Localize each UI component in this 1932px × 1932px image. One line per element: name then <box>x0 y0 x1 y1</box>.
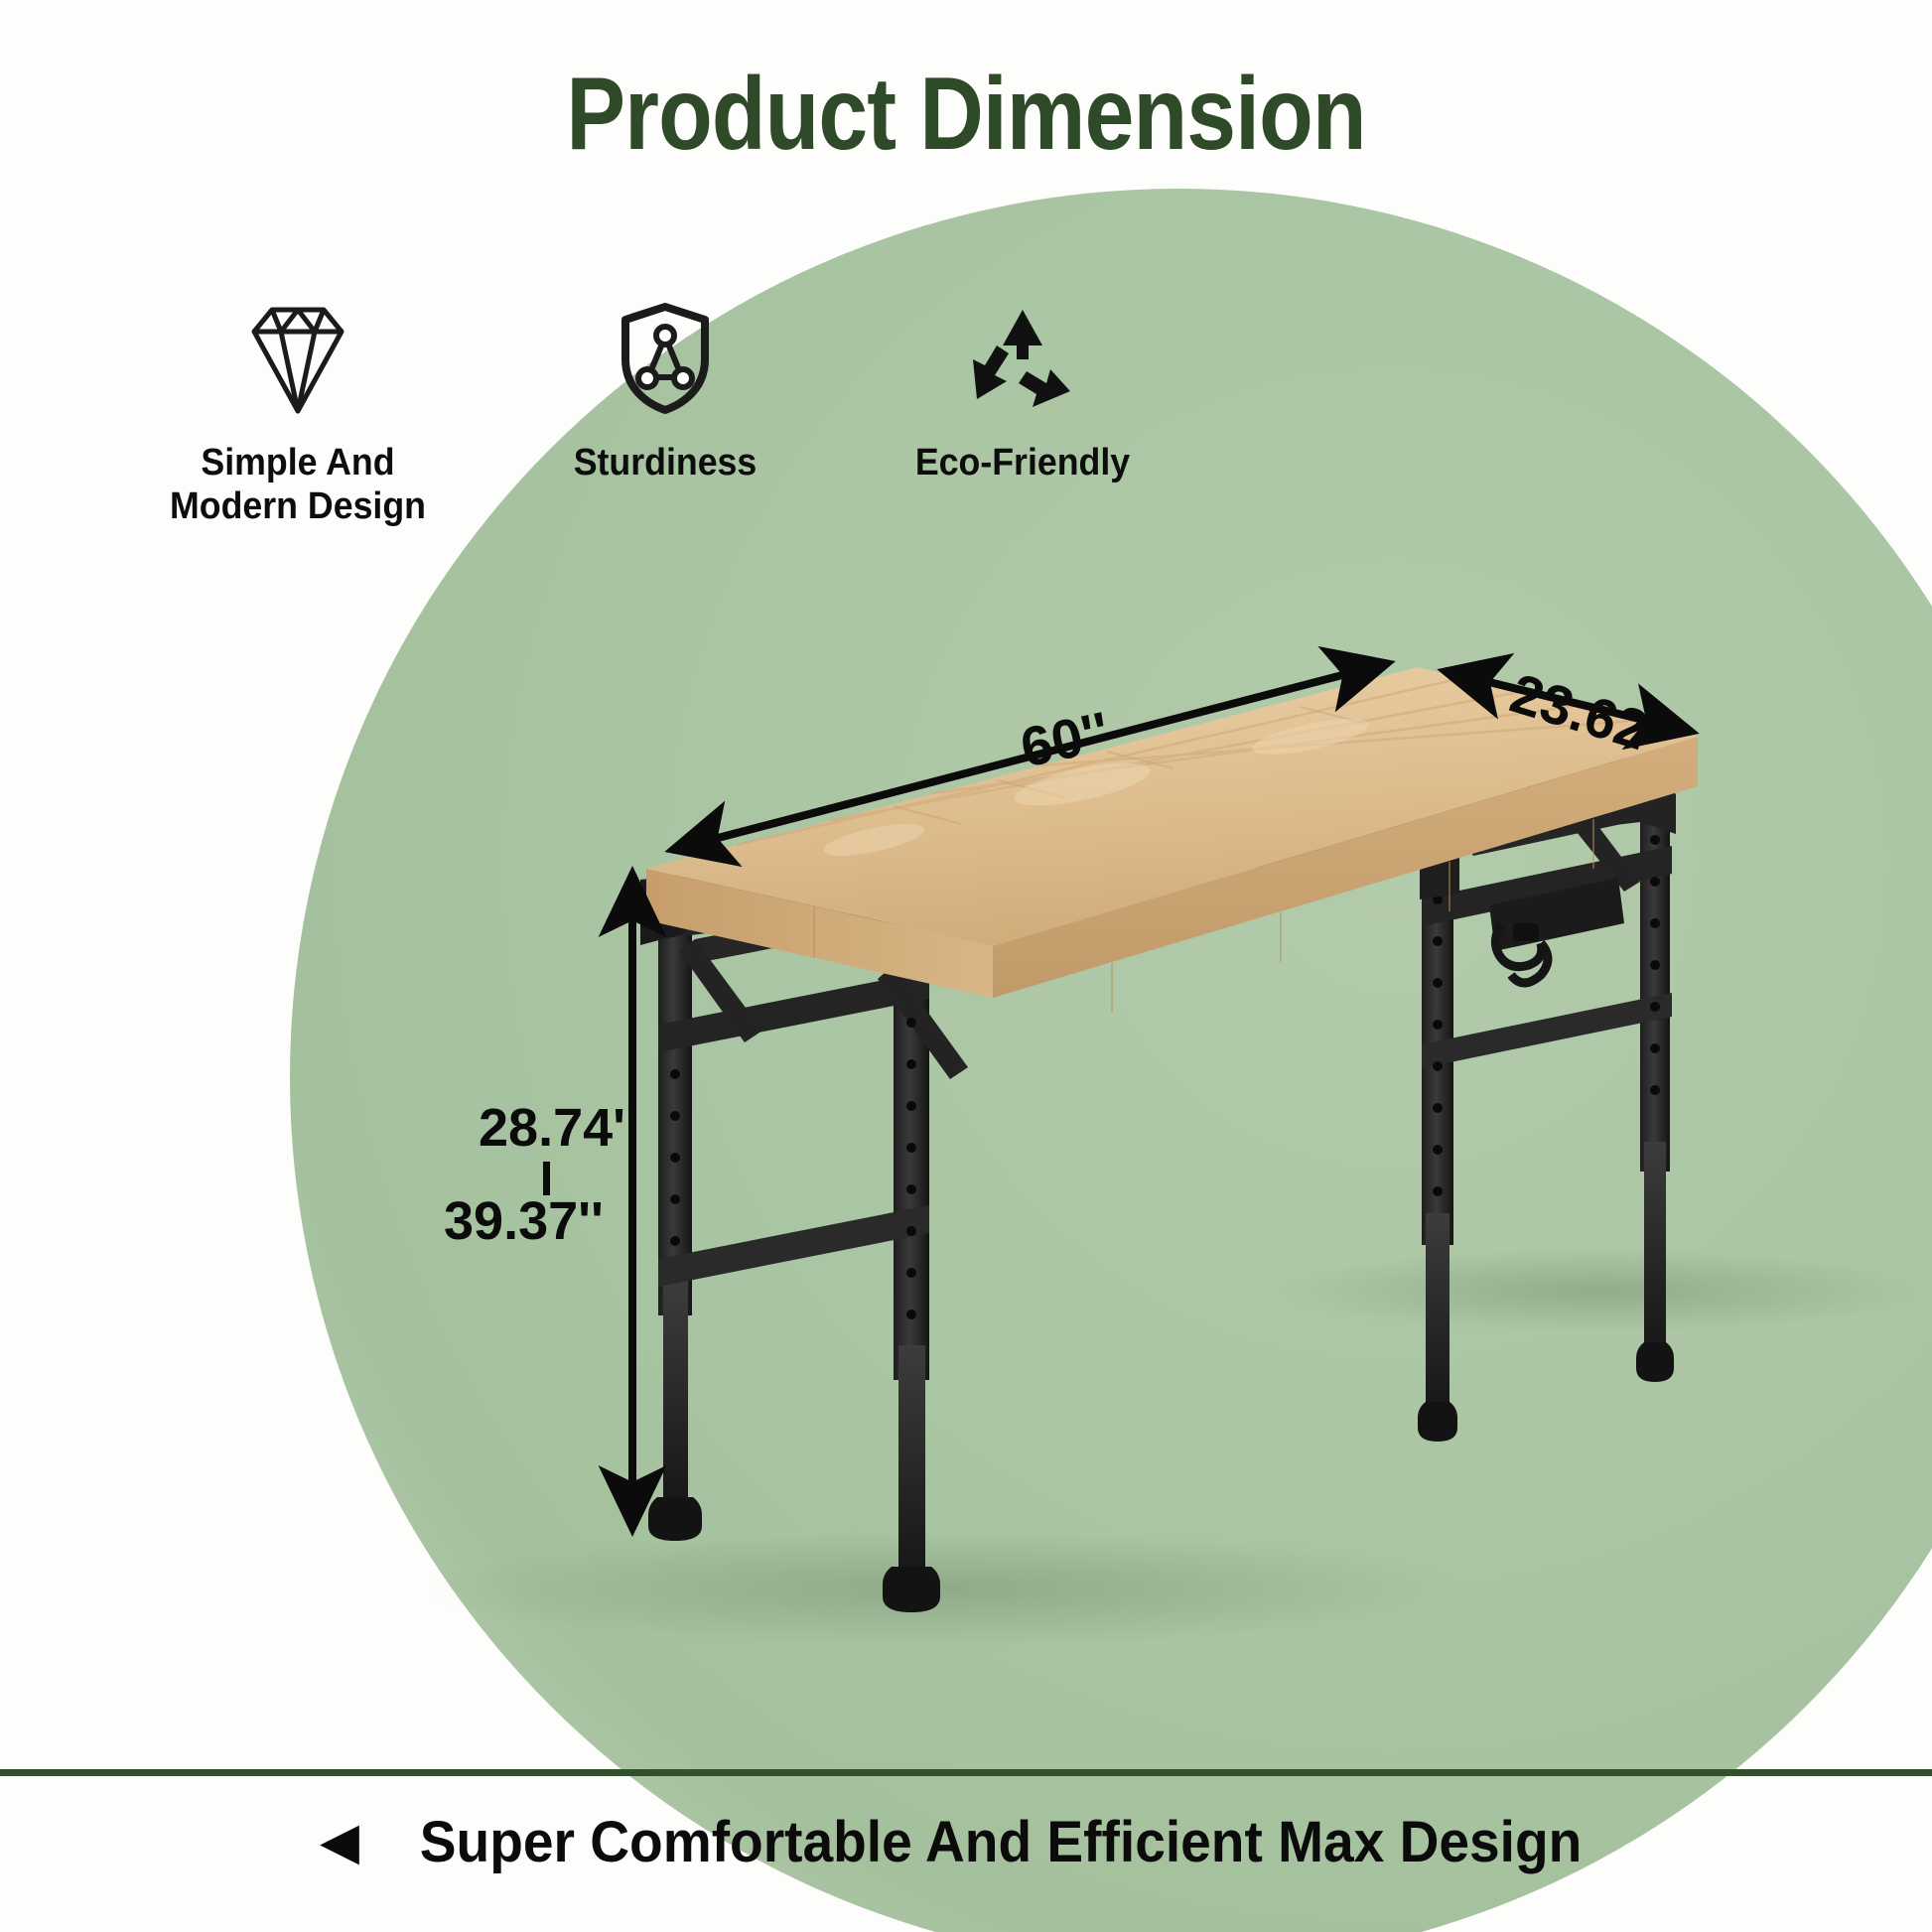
product-dimension-infographic: Product Dimension Simple And Mod <box>0 0 1932 1932</box>
left-triangle-icon: ◀ <box>320 1816 359 1867</box>
footer-divider <box>0 1769 1932 1776</box>
feature-item-eco-friendly: Eco-Friendly <box>834 298 1211 484</box>
feature-label-simple-modern-design: Simple And Modern Design <box>120 441 475 529</box>
background-decoration <box>0 0 1932 1932</box>
footer-banner-text: Super Comfortable And Efficient Max Desi… <box>420 1809 1583 1875</box>
diamond-icon <box>109 298 486 415</box>
feature-item-simple-modern-design: Simple And Modern Design <box>109 298 486 529</box>
feature-label-line1: Eco-Friendly <box>845 441 1199 484</box>
feature-list: Simple And Modern Design Sturdiness <box>109 298 1201 556</box>
recycle-icon <box>834 298 1211 415</box>
feature-label-line2: Modern Design <box>120 484 475 528</box>
height-min-label: 28.74'' <box>479 1097 638 1159</box>
footer-banner: ◀ Super Comfortable And Efficient Max De… <box>0 1787 1932 1896</box>
shield-icon <box>506 298 824 415</box>
height-max-label: 39.37'' <box>444 1190 604 1252</box>
feature-item-sturdiness: Sturdiness <box>506 298 824 484</box>
feature-label-sturdiness: Sturdiness <box>516 441 815 484</box>
page-title: Product Dimension <box>135 56 1797 174</box>
feature-label-line1: Simple And <box>120 441 475 484</box>
feature-label-line1: Sturdiness <box>516 441 815 484</box>
feature-label-eco-friendly: Eco-Friendly <box>845 441 1199 484</box>
